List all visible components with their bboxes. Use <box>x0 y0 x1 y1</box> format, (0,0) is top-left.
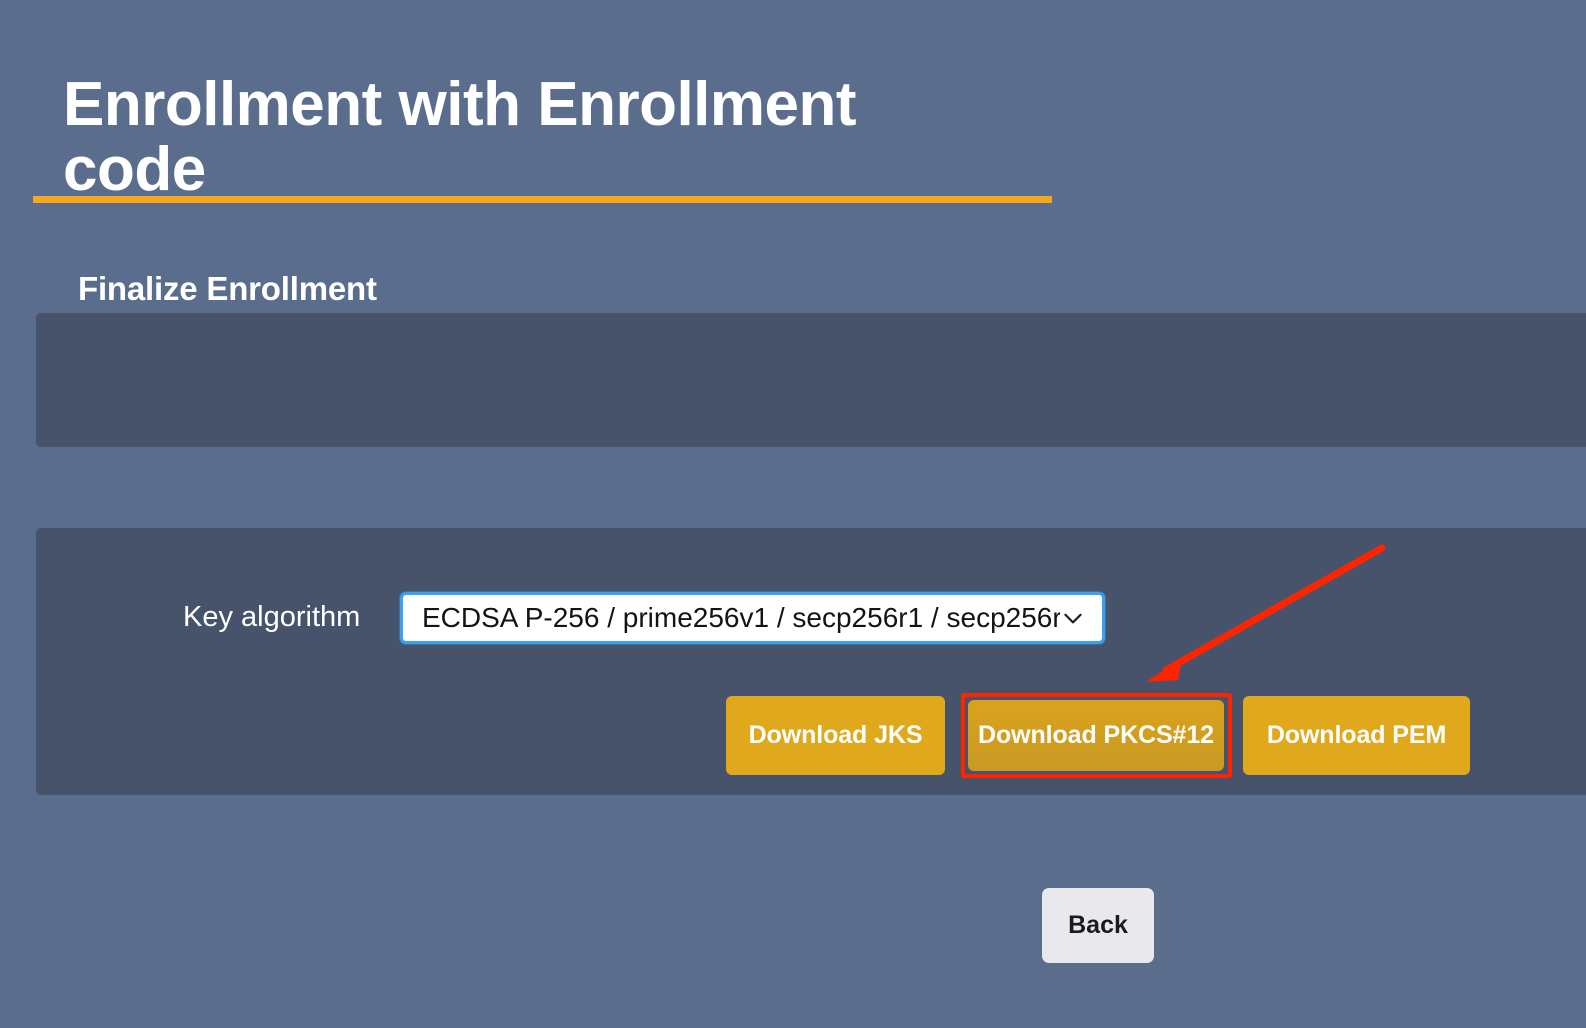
key-algorithm-select-wrapper: ECDSA P-256 / prime256v1 / secp256r1 / s… <box>400 592 1105 644</box>
key-algorithm-selected-value: ECDSA P-256 / prime256v1 / secp256r1 / s… <box>422 602 1060 634</box>
chevron-down-icon <box>1060 605 1086 631</box>
enrollment-page: Enrollment with Enrollment code Finalize… <box>0 0 1586 1028</box>
key-algorithm-select[interactable]: ECDSA P-256 / prime256v1 / secp256r1 / s… <box>400 592 1105 644</box>
page-title: Enrollment with Enrollment code <box>63 72 1063 202</box>
key-algorithm-label: Key algorithm <box>183 601 360 634</box>
back-button[interactable]: Back <box>1042 888 1154 963</box>
download-jks-button[interactable]: Download JKS <box>726 696 945 775</box>
username-panel: Username superadmin_p12 <box>36 313 1586 447</box>
download-pkcs12-button[interactable]: Download PKCS#12 <box>968 700 1224 771</box>
title-divider <box>33 196 1052 203</box>
section-title: Finalize Enrollment <box>78 270 377 308</box>
download-pem-button[interactable]: Download PEM <box>1243 696 1470 775</box>
